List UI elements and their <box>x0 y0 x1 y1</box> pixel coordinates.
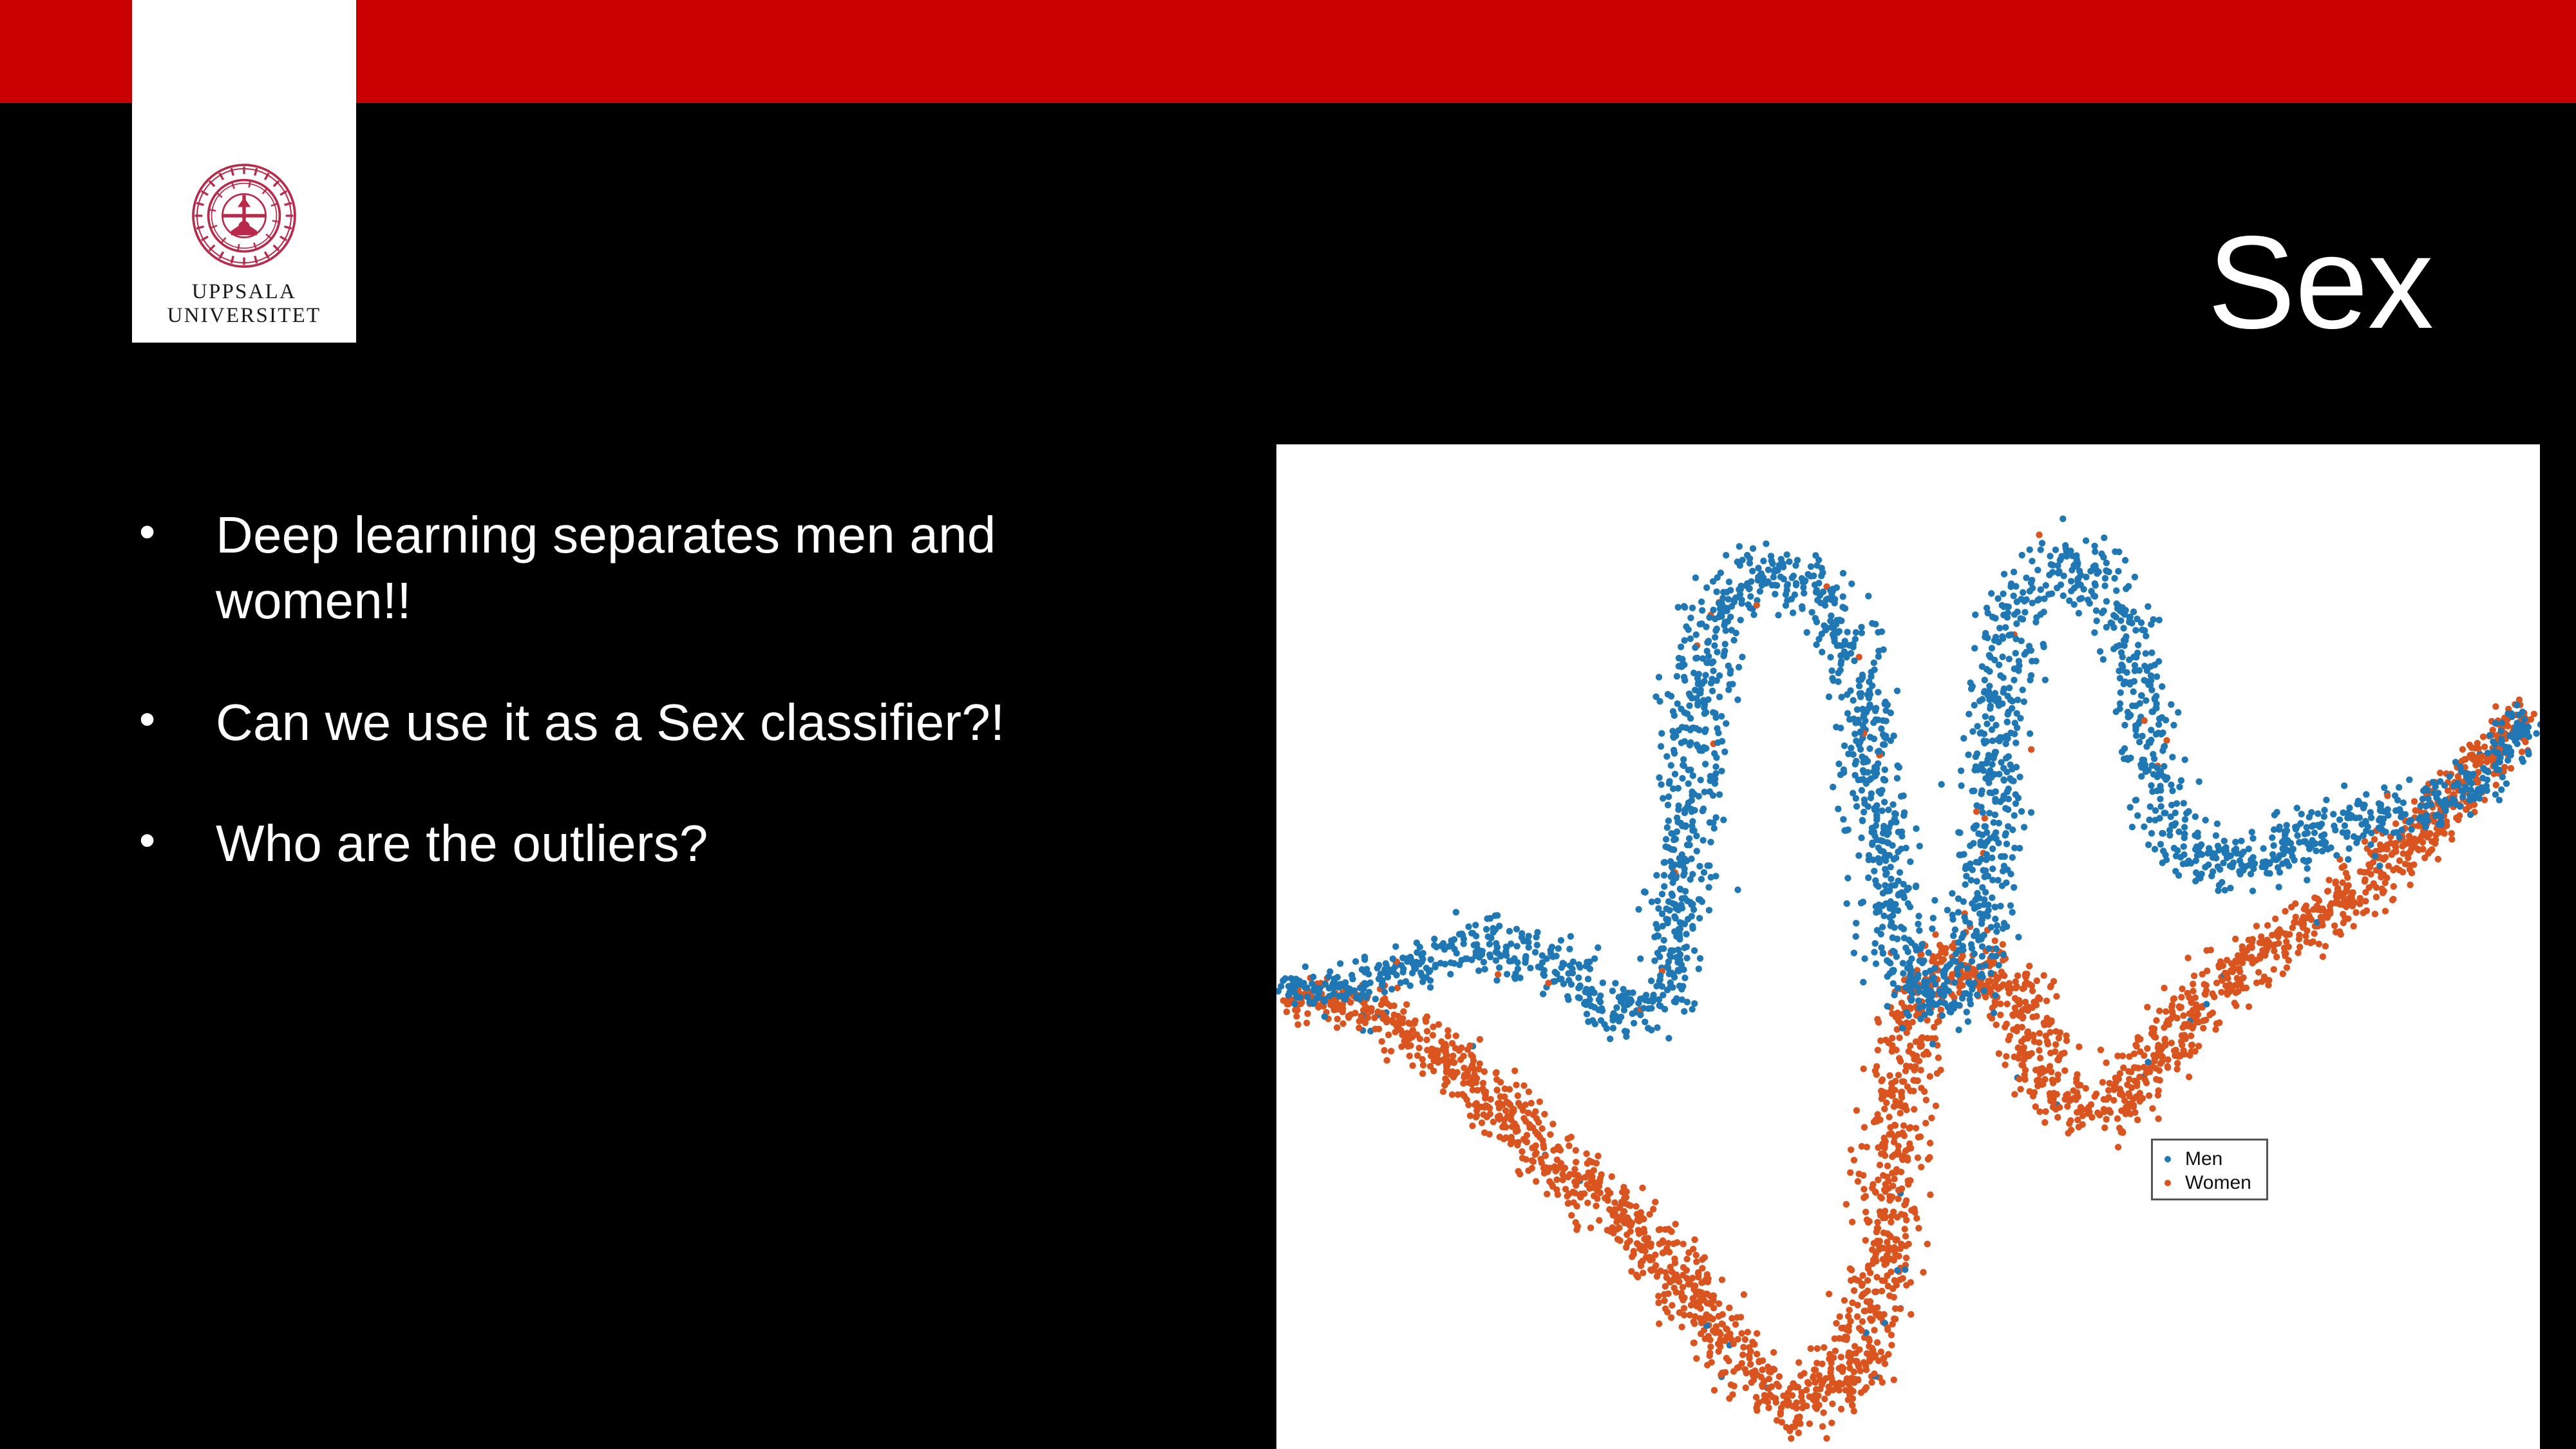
scatter-plot-panel: Men Women <box>1276 444 2540 1449</box>
bullet-marker-icon: • <box>122 811 216 870</box>
legend-entry-women: Women <box>2164 1171 2266 1195</box>
top-red-banner <box>0 0 2576 103</box>
presentation-slide: UPPSALA UNIVERSITET Sex • Deep learning … <box>0 0 2576 1449</box>
bullet-text-1: Deep learning separates men and women!! <box>216 502 1204 634</box>
legend-dot-men <box>2164 1156 2171 1162</box>
legend-label-men: Men <box>2185 1150 2222 1169</box>
bullet-item-2: • Can we use it as a Sex classifier?! <box>122 690 1204 755</box>
bullet-marker-icon: • <box>122 502 216 562</box>
chart-legend: Men Women <box>2151 1139 2268 1200</box>
university-seal-icon <box>190 162 298 270</box>
scatter-plot <box>1276 444 2540 1449</box>
bullet-list: • Deep learning separates men and women!… <box>122 502 1204 933</box>
logo-wordmark-line-2: UNIVERSITET <box>167 304 321 328</box>
logo-wordmark: UPPSALA UNIVERSITET <box>167 280 321 328</box>
legend-dot-women <box>2164 1180 2171 1186</box>
slide-title: Sex <box>2208 216 2433 348</box>
bullet-text-2: Can we use it as a Sex classifier?! <box>216 690 1204 755</box>
bullet-item-1: • Deep learning separates men and women!… <box>122 502 1204 634</box>
legend-label-women: Women <box>2185 1173 2251 1193</box>
logo-wordmark-line-1: UPPSALA <box>167 280 321 305</box>
bullet-item-3: • Who are the outliers? <box>122 811 1204 876</box>
bullet-text-3: Who are the outliers? <box>216 811 1204 876</box>
bullet-marker-icon: • <box>122 690 216 749</box>
uppsala-university-logo: UPPSALA UNIVERSITET <box>132 0 356 343</box>
legend-entry-men: Men <box>2164 1147 2266 1171</box>
